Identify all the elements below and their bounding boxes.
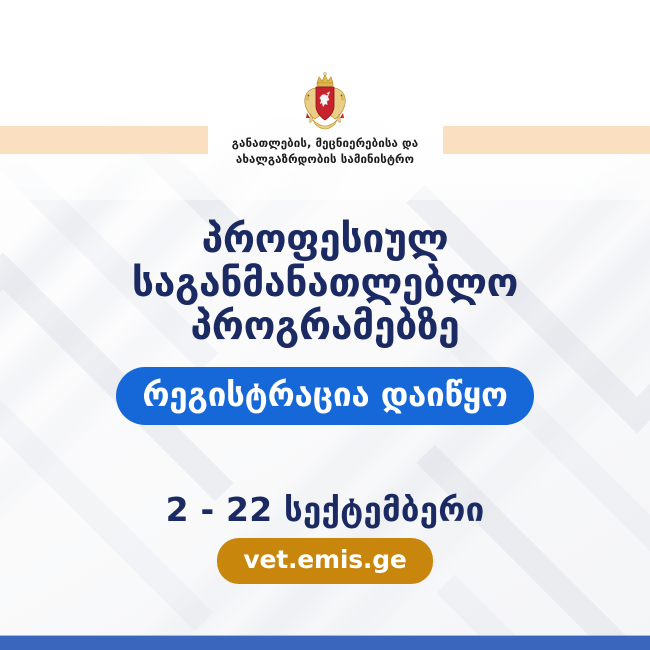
registration-badge-container: რეგისტრაცია დაიწყო [0,367,650,425]
brand-block: განათლების, მეცნიერებისა და ახალგაზრდობი… [0,70,650,167]
poster-content: განათლების, მეცნიერებისა და ახალგაზრდობი… [0,0,650,650]
headline-line-2: საგანმანათლებლო [0,262,650,306]
headline-line-3: პროგრამებზე [0,305,650,349]
registration-open-badge: რეგისტრაცია დაიწყო [116,367,533,425]
registration-dates: 2 - 22 სექტემბერი [0,490,650,529]
headline-line-1: პროფესიულ [0,218,650,262]
ministry-name: განათლების, მეცნიერებისა და ახალგაზრდობი… [232,136,418,167]
bottom-accent-bar [0,636,650,650]
georgia-coat-of-arms-icon [297,70,353,132]
page-title: პროფესიულ საგანმანათლებლო პროგრამებზე [0,218,650,349]
website-link-button[interactable]: vet.emis.ge [217,538,432,584]
website-link-container: vet.emis.ge [0,538,650,584]
poster-canvas: განათლების, მეცნიერებისა და ახალგაზრდობი… [0,0,650,650]
